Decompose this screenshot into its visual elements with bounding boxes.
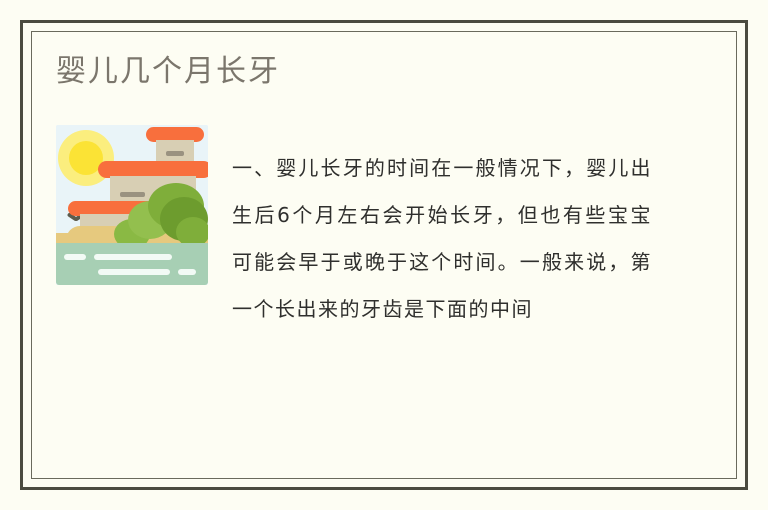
water-shape (56, 243, 208, 285)
article-body: 一、婴儿长牙的时间在一般情况下，婴儿出生后6个月左右会开始长牙，但也有些宝宝可能… (56, 125, 712, 353)
water-ripple (178, 269, 196, 275)
water-ripple (94, 254, 172, 260)
article-page: 婴儿几个月长牙 (0, 0, 768, 510)
article-content: 婴儿几个月长牙 (56, 52, 712, 465)
article-paragraph: 一、婴儿长牙的时间在一般情况下，婴儿出生后6个月左右会开始长牙，但也有些宝宝可能… (232, 145, 652, 333)
water-ripple (98, 269, 170, 275)
water-ripple (64, 254, 86, 260)
window-icon (120, 192, 145, 197)
landscape-illustration (56, 125, 208, 285)
page-title: 婴儿几个月长牙 (56, 52, 712, 93)
window-icon (166, 151, 184, 156)
